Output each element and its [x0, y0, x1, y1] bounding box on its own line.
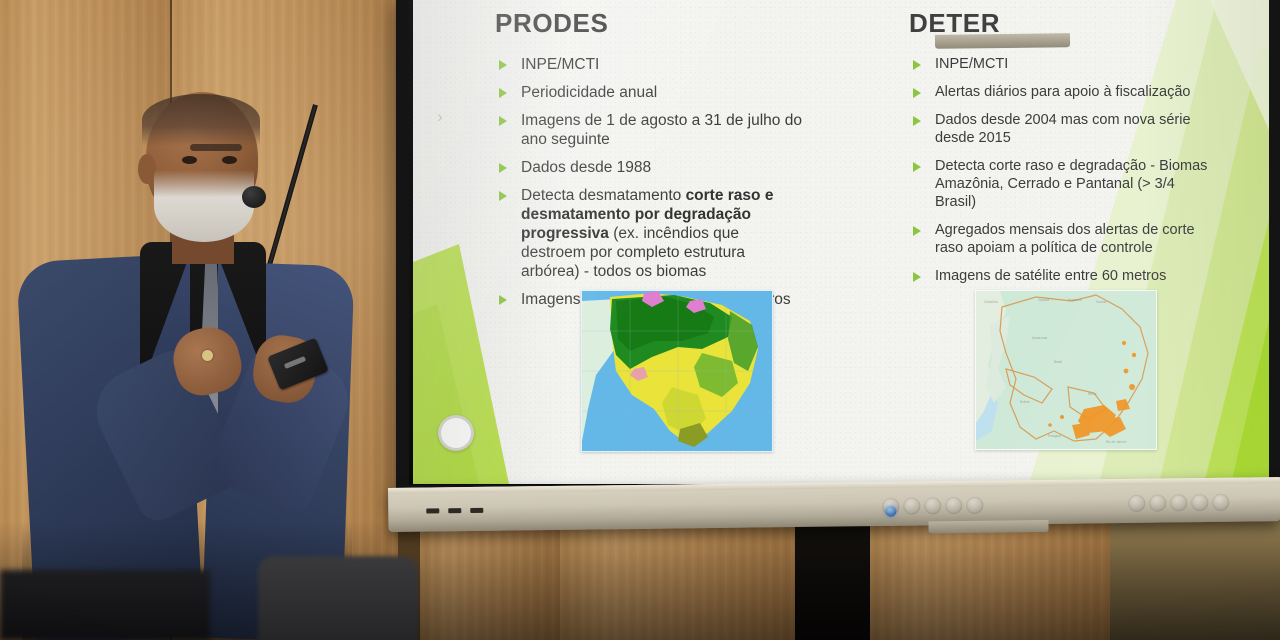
list-item: Dados desde 1988	[495, 158, 807, 177]
speaker-dot	[1128, 495, 1145, 512]
svg-text:Minas: Minas	[1088, 392, 1097, 396]
svg-text:Paraguai: Paraguai	[1048, 434, 1061, 438]
column-deter: DETER INPE/MCTI Alertas diários para apo…	[909, 8, 1217, 295]
usb-port-icon[interactable]	[426, 508, 439, 513]
bullet-triangle-icon	[499, 88, 507, 98]
microphone-capsule	[242, 186, 266, 208]
prodes-map-graphic	[582, 291, 772, 451]
speaker-dot	[1149, 494, 1166, 511]
prodes-title: PRODES	[495, 8, 807, 39]
svg-text:Brasil: Brasil	[1054, 360, 1062, 364]
column-prodes: PRODES INPE/MCTI Periodicidade anual	[495, 8, 807, 318]
speaker-grille-left	[882, 497, 983, 515]
bullet-triangle-icon	[499, 116, 507, 126]
speaker-dot	[1191, 494, 1208, 511]
wall-mount-bracket	[928, 520, 1048, 533]
list-item: Imagens de 1 de agosto a 31 de julho do …	[495, 111, 807, 149]
bullet-triangle-icon	[913, 88, 921, 98]
brazil-deter-alerts-map: Colombia Guyana Suriname Guiana Brasil B…	[975, 290, 1157, 450]
bullet-text: Dados desde 1988	[521, 159, 651, 176]
beard	[154, 170, 254, 242]
svg-text:Amazonas: Amazonas	[1032, 336, 1047, 340]
bullet-text-pre: Detecta desmatamento	[521, 187, 686, 204]
list-item: Detecta desmatamento corte raso e desmat…	[495, 186, 807, 281]
bullet-text: Periodicidade anual	[521, 84, 657, 101]
bullet-text: Agregados mensais dos alertas de corte r…	[935, 222, 1195, 256]
speaker-dot	[1212, 494, 1229, 511]
usb-port-icon[interactable]	[448, 508, 461, 513]
svg-text:Rio de Janeiro: Rio de Janeiro	[1106, 440, 1127, 444]
list-item: Alertas diários para apoio à fiscalizaçã…	[909, 83, 1217, 101]
wall-mount-bracket-right	[935, 33, 1070, 49]
eyebrow	[190, 144, 242, 151]
svg-text:Colombia: Colombia	[984, 300, 998, 304]
list-item: Imagens de satélite entre 60 metros	[909, 267, 1217, 285]
deter-map-graphic: Colombia Guyana Suriname Guiana Brasil B…	[976, 291, 1156, 449]
list-item: INPE/MCTI	[495, 55, 807, 74]
usb-port-icon[interactable]	[470, 508, 483, 513]
speaker-dot	[945, 497, 962, 514]
interactive-display[interactable]: › PRODES INPE/MCTI Periodicidade anual	[396, 0, 1280, 498]
deter-bullet-list: INPE/MCTI Alertas diários para apoio à f…	[909, 55, 1217, 285]
bullet-triangle-icon	[913, 60, 921, 70]
display-screen[interactable]: › PRODES INPE/MCTI Periodicidade anual	[413, 0, 1269, 484]
bullet-text: Dados desde 2004 mas com nova série desd…	[935, 112, 1191, 146]
list-item: Dados desde 2004 mas com nova série desd…	[909, 111, 1217, 147]
brazil-prodes-landcover-map	[581, 290, 773, 452]
port-group[interactable]	[426, 508, 483, 514]
eye-left	[182, 156, 197, 164]
bullet-triangle-icon	[913, 226, 921, 236]
speaker-dot	[882, 498, 899, 515]
speaker-dot	[903, 497, 920, 514]
list-item: Agregados mensais dos alertas de corte r…	[909, 221, 1217, 257]
bullet-text: Imagens de 1 de agosto a 31 de julho do …	[521, 112, 802, 148]
bullet-triangle-icon	[913, 162, 921, 172]
list-item: Detecta corte raso e degradação - Biomas…	[909, 157, 1217, 211]
bullet-text: Imagens de satélite entre 60 metros	[935, 268, 1166, 284]
presentation-slide[interactable]: › PRODES INPE/MCTI Periodicidade anual	[413, 0, 1269, 484]
hair	[142, 94, 260, 146]
bullet-text: INPE/MCTI	[935, 56, 1008, 72]
svg-text:Suriname: Suriname	[1068, 298, 1082, 302]
svg-text:Guiana: Guiana	[1096, 300, 1107, 304]
foreground-chair-left	[0, 570, 210, 640]
prodes-bullet-list: INPE/MCTI Periodicidade anual Imagens de…	[495, 55, 807, 309]
bullet-text: Alertas diários para apoio à fiscalizaçã…	[935, 84, 1191, 100]
speaker-dot	[966, 497, 983, 514]
bullet-triangle-icon	[499, 60, 507, 70]
svg-text:Bolivia: Bolivia	[1020, 400, 1030, 404]
speaker-dot	[1170, 494, 1187, 511]
bullet-text: INPE/MCTI	[521, 56, 599, 73]
bullet-triangle-icon	[913, 272, 921, 282]
list-item: Periodicidade anual	[495, 83, 807, 102]
screenshot-root: › PRODES INPE/MCTI Periodicidade anual	[0, 0, 1280, 640]
finger-ring	[202, 350, 213, 361]
slide-nav-chevron-icon[interactable]: ›	[427, 103, 453, 131]
list-item: INPE/MCTI	[909, 55, 1217, 73]
eye-right	[222, 156, 237, 164]
bullet-triangle-icon	[499, 163, 507, 173]
foreground-chair	[258, 556, 418, 640]
speaker-grille-right	[1128, 494, 1229, 512]
svg-text:Guyana: Guyana	[1038, 298, 1049, 302]
bullet-triangle-icon	[499, 295, 507, 305]
bullet-triangle-icon	[913, 116, 921, 126]
speaker-dot	[924, 497, 941, 514]
bullet-triangle-icon	[499, 191, 507, 201]
floating-screen-control-button[interactable]	[438, 415, 474, 451]
bullet-text: Detecta corte raso e degradação - Biomas…	[935, 158, 1207, 210]
